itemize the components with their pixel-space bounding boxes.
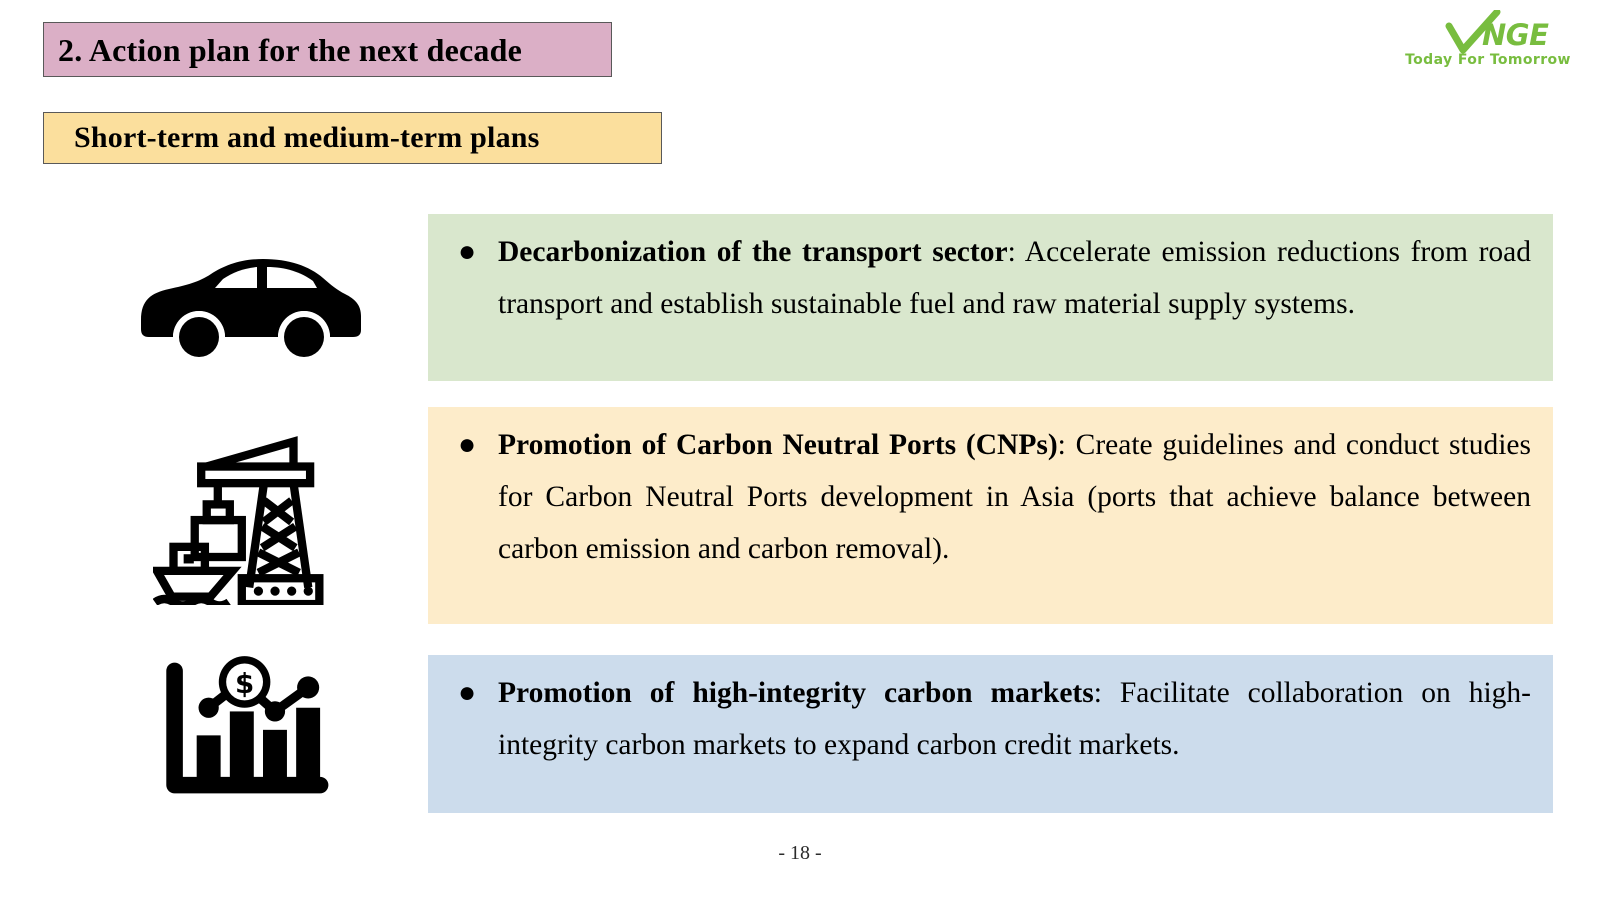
- logo-wordmark: NGE: [1482, 18, 1548, 52]
- bullet-icon: ●: [458, 226, 498, 278]
- svg-text:$: $: [234, 667, 253, 700]
- content-panel: ● Promotion of Carbon Neutral Ports (CNP…: [428, 407, 1553, 624]
- page-number: - 18 -: [0, 842, 1600, 865]
- panel-lead: Decarbonization of the transport sector: [498, 236, 1008, 268]
- company-logo: NGE Today For Tomorrow: [1398, 10, 1578, 80]
- bullet-icon: ●: [458, 419, 498, 471]
- content-panel: ● Decarbonization of the transport secto…: [428, 214, 1553, 381]
- subsection-title-text: Short-term and medium-term plans: [74, 123, 540, 153]
- panel-text: Promotion of Carbon Neutral Ports (CNPs)…: [498, 419, 1531, 575]
- content-panel: ● Promotion of high-integrity carbon mar…: [428, 655, 1553, 813]
- icon-cell: [80, 225, 410, 370]
- port-crane-ship-icon: [153, 425, 338, 605]
- icon-cell: $: [80, 640, 410, 815]
- panel-lead: Promotion of high-integrity carbon marke…: [498, 677, 1094, 709]
- panel-lead: Promotion of Carbon Neutral Ports (CNPs): [498, 429, 1058, 461]
- subsection-title-ribbon: Short-term and medium-term plans: [43, 112, 662, 164]
- section-title-ribbon: 2. Action plan for the next decade: [43, 22, 612, 77]
- panel-text: Decarbonization of the transport sector:…: [498, 226, 1531, 330]
- car-icon: [125, 238, 365, 358]
- icon-cell: [80, 410, 410, 620]
- bullet-icon: ●: [458, 667, 498, 719]
- panel-text: Promotion of high-integrity carbon marke…: [498, 667, 1531, 771]
- logo-tagline: Today For Tomorrow: [1398, 52, 1578, 68]
- logo-mark: NGE: [1398, 10, 1578, 54]
- section-title-text: 2. Action plan for the next decade: [58, 34, 522, 66]
- slide-canvas: 2. Action plan for the next decade Short…: [0, 0, 1600, 900]
- bar-chart-dollar-icon: $: [158, 653, 333, 803]
